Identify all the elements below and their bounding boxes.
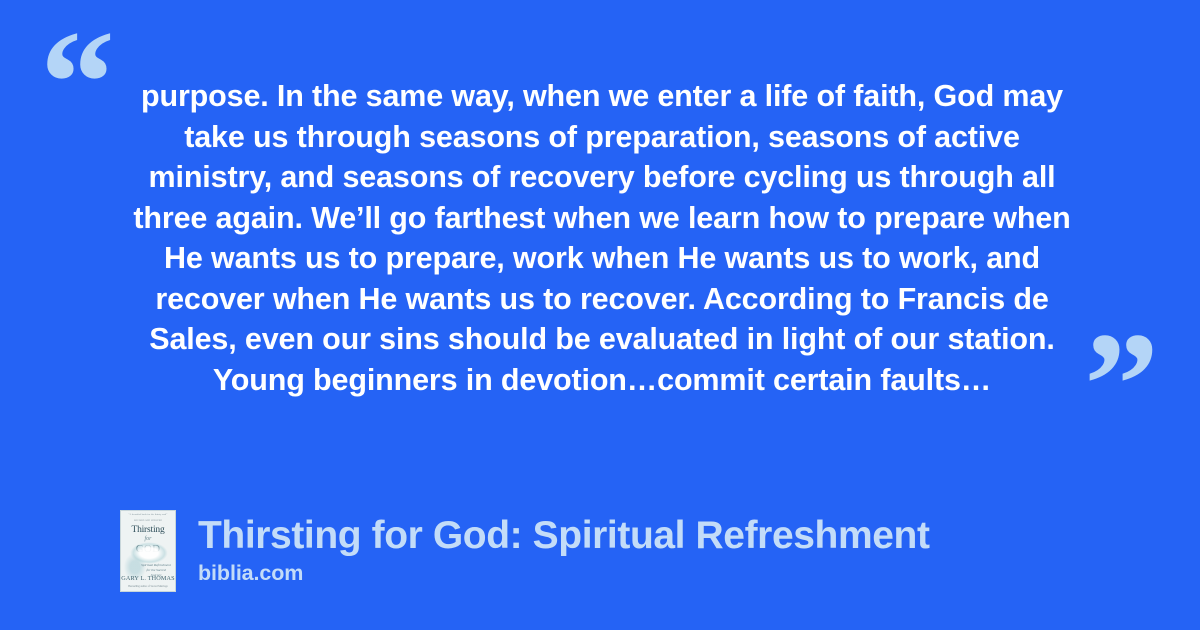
book-title: Thirsting for God: Spiritual Refreshment [198,516,930,557]
book-cover-title-line1: Thirsting [121,526,175,536]
source-url: biblia.com [198,562,930,586]
footer-text-group: Thirsting for God: Spiritual Refreshment… [198,516,930,586]
quote-card: “ purpose. In the same way, when we ente… [0,0,1200,630]
book-cover-endorsement: “A beautiful book for the thirsty soul” [121,514,175,517]
book-cover-author: GARY L. THOMAS [121,575,175,582]
quote-text: purpose. In the same way, when we enter … [124,76,1080,400]
book-cover-thumbnail: “A beautiful book for the thirsty soul” … [120,510,176,592]
book-cover-byline: Bestselling author of Sacred Marriage [121,585,175,588]
footer: “A beautiful book for the thirsty soul” … [120,510,930,592]
closing-quote-icon: ” [1084,310,1159,460]
opening-quote-icon: “ [40,8,115,158]
book-cover-edition: REVISED AND UPDATED [121,520,175,523]
